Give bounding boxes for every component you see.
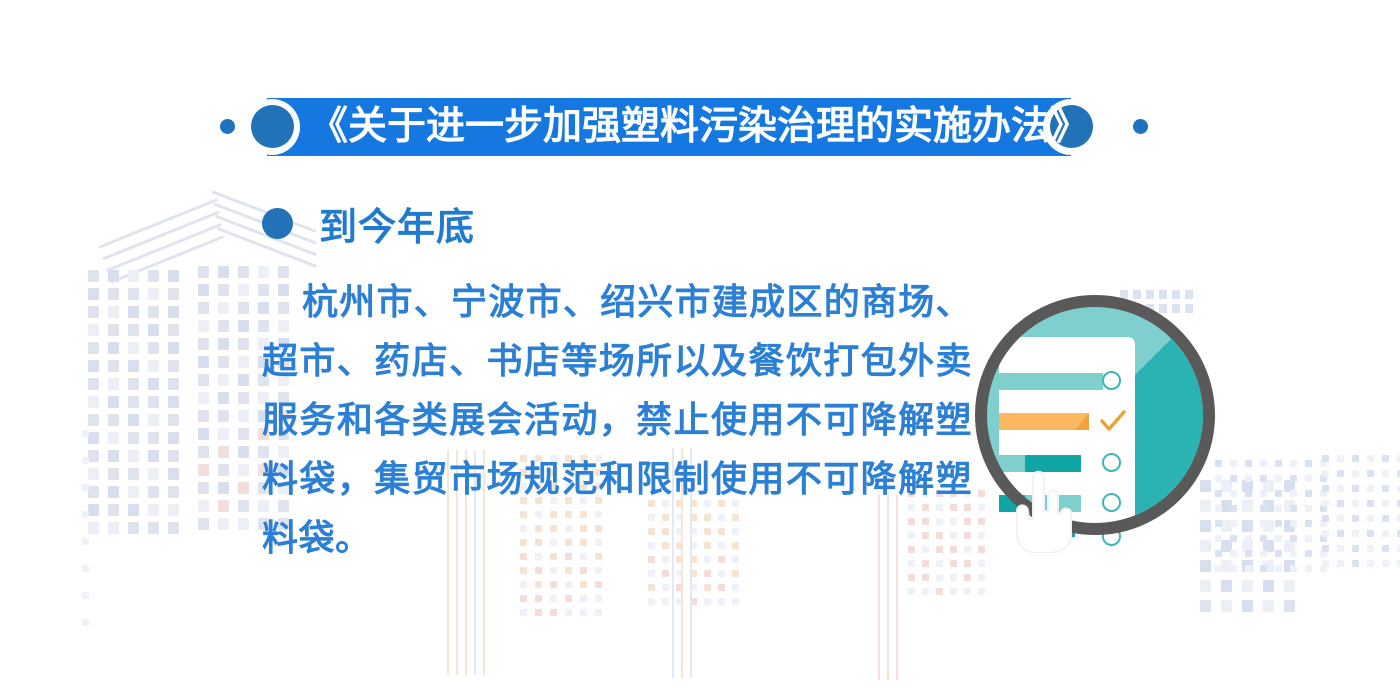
title-banner: 《关于进一步加强塑料污染治理的实施办法》	[205, 98, 1165, 156]
subtitle-row: 到今年底	[262, 196, 475, 251]
subtitle-label: 到今年底	[319, 196, 475, 251]
decorative-dot-small-left	[220, 119, 235, 134]
city-building-far-right	[1322, 455, 1400, 567]
decorative-dot-small-right	[1133, 119, 1148, 134]
body-paragraph: 杭州市、宁波市、绍兴市建成区的商场、超市、药店、书店等场所以及餐饮打包外卖服务和…	[262, 272, 972, 567]
page-title: 《关于进一步加强塑料污染治理的实施办法》	[309, 98, 1089, 156]
decorative-dot-large-left	[251, 105, 294, 148]
poster-canvas: 《关于进一步加强塑料污染治理的实施办法》 到今年底 杭州市、宁波市、绍兴市建成区…	[0, 0, 1400, 700]
city-building-right-b	[1215, 460, 1326, 572]
bullet-icon	[262, 208, 293, 239]
checklist-illustration	[975, 295, 1215, 535]
city-dots-far-left	[82, 430, 89, 626]
pointing-hand-icon	[1003, 461, 1081, 553]
